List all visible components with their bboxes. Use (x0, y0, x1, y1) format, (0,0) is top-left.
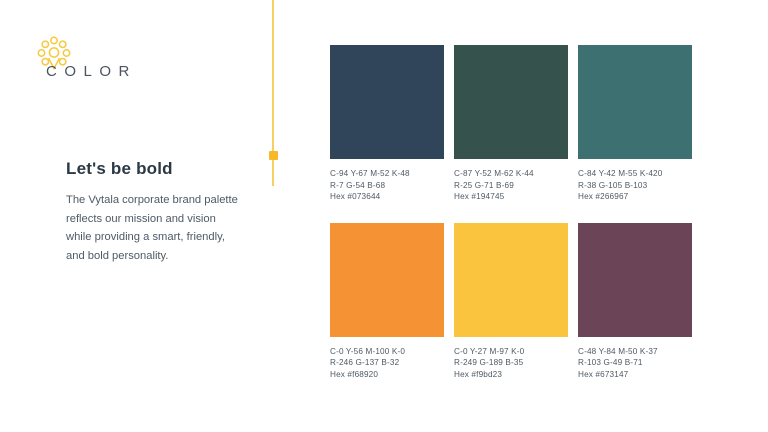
brand-wordmark: COLOR (46, 63, 137, 80)
swatch-cmyk: C-94 Y-67 M-52 K-48 (330, 168, 444, 180)
swatch-cmyk: C-48 Y-84 M-50 K-37 (578, 346, 692, 358)
page-title: Let's be bold (66, 159, 173, 179)
swatch-hex: Hex #266967 (578, 191, 692, 203)
swatch-meta: C-48 Y-84 M-50 K-37 R-103 G-49 B-71 Hex … (578, 346, 692, 381)
color-chip[interactable] (330, 45, 444, 159)
color-chip[interactable] (330, 223, 444, 337)
swatch-cell[interactable]: C-94 Y-67 M-52 K-48 R-7 G-54 B-68 Hex #0… (330, 45, 444, 203)
swatch-hex: Hex #f9bd23 (454, 369, 568, 381)
swatch-rgb: R-7 G-54 B-68 (330, 180, 444, 192)
color-chip[interactable] (578, 223, 692, 337)
color-chip[interactable] (454, 223, 568, 337)
swatch-meta: C-0 Y-27 M-97 K-0 R-249 G-189 B-35 Hex #… (454, 346, 568, 381)
swatch-meta: C-87 Y-52 M-62 K-44 R-25 G-71 B-69 Hex #… (454, 168, 568, 203)
swatch-cell[interactable]: C-48 Y-84 M-50 K-37 R-103 G-49 B-71 Hex … (578, 223, 692, 381)
swatch-hex: Hex #194745 (454, 191, 568, 203)
swatch-rgb: R-246 G-137 B-32 (330, 357, 444, 369)
swatch-hex: Hex #673147 (578, 369, 692, 381)
swatch-cell[interactable]: C-0 Y-27 M-97 K-0 R-249 G-189 B-35 Hex #… (454, 223, 568, 381)
swatch-cmyk: C-87 Y-52 M-62 K-44 (454, 168, 568, 180)
swatch-rgb: R-25 G-71 B-69 (454, 180, 568, 192)
swatch-meta: C-0 Y-56 M-100 K-0 R-246 G-137 B-32 Hex … (330, 346, 444, 381)
swatch-cmyk: C-84 Y-42 M-55 K-420 (578, 168, 692, 180)
divider-dot-marker (269, 151, 278, 160)
swatch-rgb: R-38 G-105 B-103 (578, 180, 692, 192)
color-palette-grid: C-94 Y-67 M-52 K-48 R-7 G-54 B-68 Hex #0… (330, 45, 718, 381)
swatch-cmyk: C-0 Y-56 M-100 K-0 (330, 346, 444, 358)
swatch-cell[interactable]: C-87 Y-52 M-62 K-44 R-25 G-71 B-69 Hex #… (454, 45, 568, 203)
swatch-rgb: R-249 G-189 B-35 (454, 357, 568, 369)
color-chip[interactable] (578, 45, 692, 159)
swatch-cell[interactable]: C-84 Y-42 M-55 K-420 R-38 G-105 B-103 He… (578, 45, 692, 203)
swatch-meta: C-84 Y-42 M-55 K-420 R-38 G-105 B-103 He… (578, 168, 692, 203)
swatch-cell[interactable]: C-0 Y-56 M-100 K-0 R-246 G-137 B-32 Hex … (330, 223, 444, 381)
color-chip[interactable] (454, 45, 568, 159)
palette-row-top: C-94 Y-67 M-52 K-48 R-7 G-54 B-68 Hex #0… (330, 45, 718, 203)
intro-paragraph: The Vytala corporate brand palette refle… (66, 191, 241, 265)
swatch-meta: C-94 Y-67 M-52 K-48 R-7 G-54 B-68 Hex #0… (330, 168, 444, 203)
swatch-hex: Hex #073644 (330, 191, 444, 203)
swatch-hex: Hex #f68920 (330, 369, 444, 381)
swatch-rgb: R-103 G-49 B-71 (578, 357, 692, 369)
swatch-cmyk: C-0 Y-27 M-97 K-0 (454, 346, 568, 358)
palette-row-bottom: C-0 Y-56 M-100 K-0 R-246 G-137 B-32 Hex … (330, 223, 718, 381)
